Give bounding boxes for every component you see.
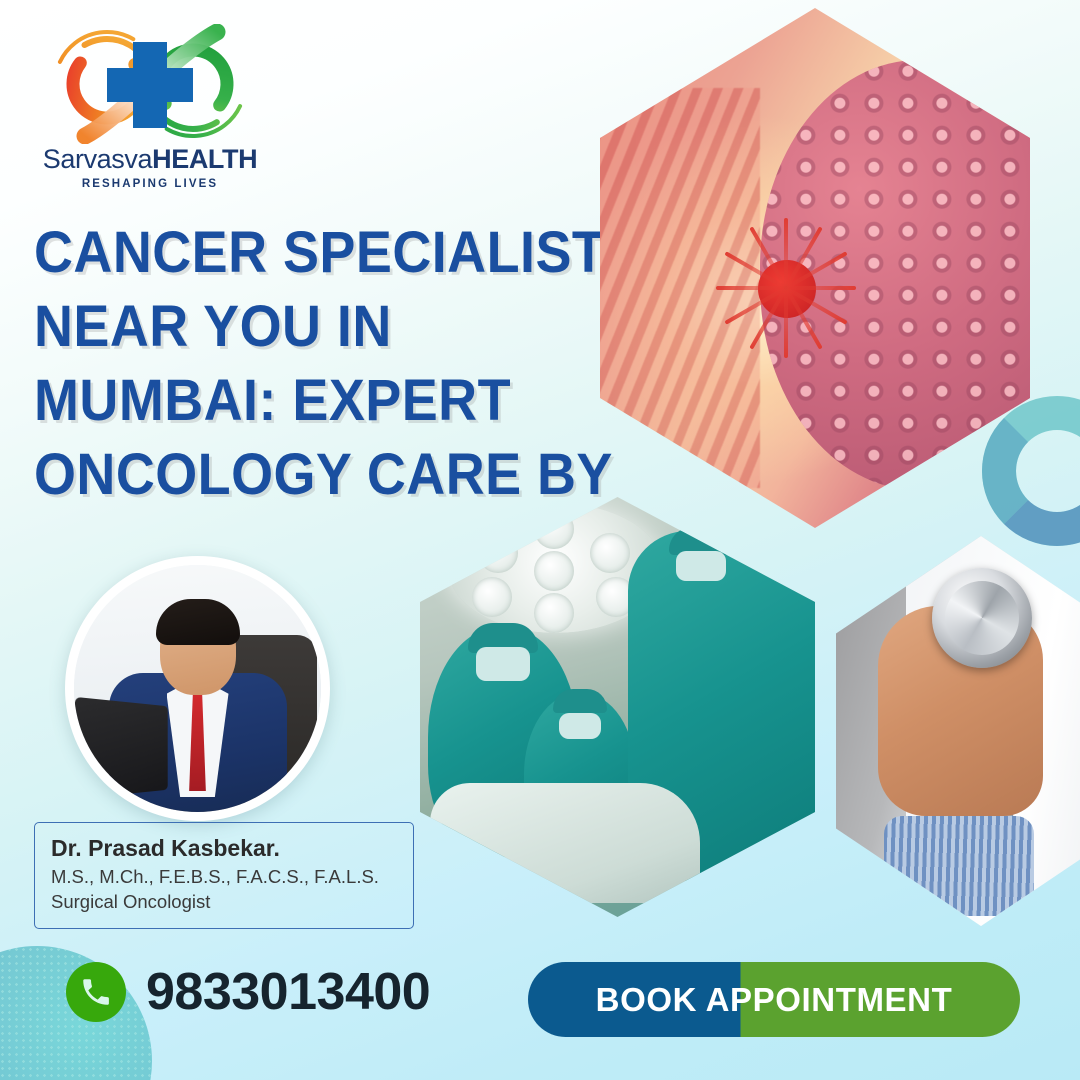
doctor-degrees: M.S., M.Ch., F.E.B.S., F.A.C.S., F.A.L.S…	[51, 865, 397, 889]
brand-name-light: Sarvasva	[43, 144, 152, 174]
doctor-name: Dr. Prasad Kasbekar.	[51, 835, 397, 862]
headline-line-1: CANCER SPECIALIST	[34, 216, 518, 290]
stethoscope-chestpiece-icon	[932, 568, 1032, 668]
brand-name-bold: HEALTH	[152, 144, 257, 174]
stethoscope-artwork	[836, 536, 1080, 926]
brand-logo[interactable]: SarvasvaHEALTH RESHAPING LIVES	[30, 24, 270, 190]
poster-canvas: SarvasvaHEALTH RESHAPING LIVES CANCER SP…	[0, 0, 1080, 1080]
avatar	[65, 556, 330, 821]
cancer-cell-image-hexagon	[600, 8, 1030, 528]
operating-room-artwork	[420, 497, 815, 917]
blue-ring-decoration	[982, 396, 1080, 546]
phone-icon[interactable]	[66, 962, 126, 1022]
book-appointment-label: BOOK APPOINTMENT	[596, 981, 953, 1019]
headline-line-2: NEAR YOU IN	[34, 290, 518, 364]
doctor-portrait-photo	[74, 565, 321, 812]
cancer-cell-artwork	[600, 8, 1030, 528]
brand-tagline: RESHAPING LIVES	[30, 178, 270, 190]
phone-number[interactable]: 9833013400	[146, 966, 430, 1018]
surgical-drape	[430, 783, 700, 903]
laptop	[75, 697, 168, 799]
headline-line-3: MUMBAI: EXPERT	[34, 364, 518, 438]
brand-wordmark: SarvasvaHEALTH	[30, 146, 270, 173]
phone-contact[interactable]: 9833013400	[66, 962, 430, 1022]
spiked-cancer-cell	[716, 218, 856, 358]
page-title: CANCER SPECIALIST NEAR YOU IN MUMBAI: EX…	[34, 216, 518, 512]
doctor-credentials-card: Dr. Prasad Kasbekar. M.S., M.Ch., F.E.B.…	[34, 822, 414, 929]
doctor-role: Surgical Oncologist	[51, 890, 397, 914]
medical-cross-infinity-logo-icon	[45, 24, 255, 144]
stethoscope-image-hexagon	[836, 536, 1080, 926]
teal-ring-decoration	[982, 396, 1080, 546]
surgery-image-hexagon	[420, 497, 815, 917]
headline-line-4: ONCOLOGY CARE BY	[34, 438, 518, 512]
shirt-cuff	[884, 816, 1034, 916]
book-appointment-button[interactable]: BOOK APPOINTMENT	[528, 962, 1020, 1037]
